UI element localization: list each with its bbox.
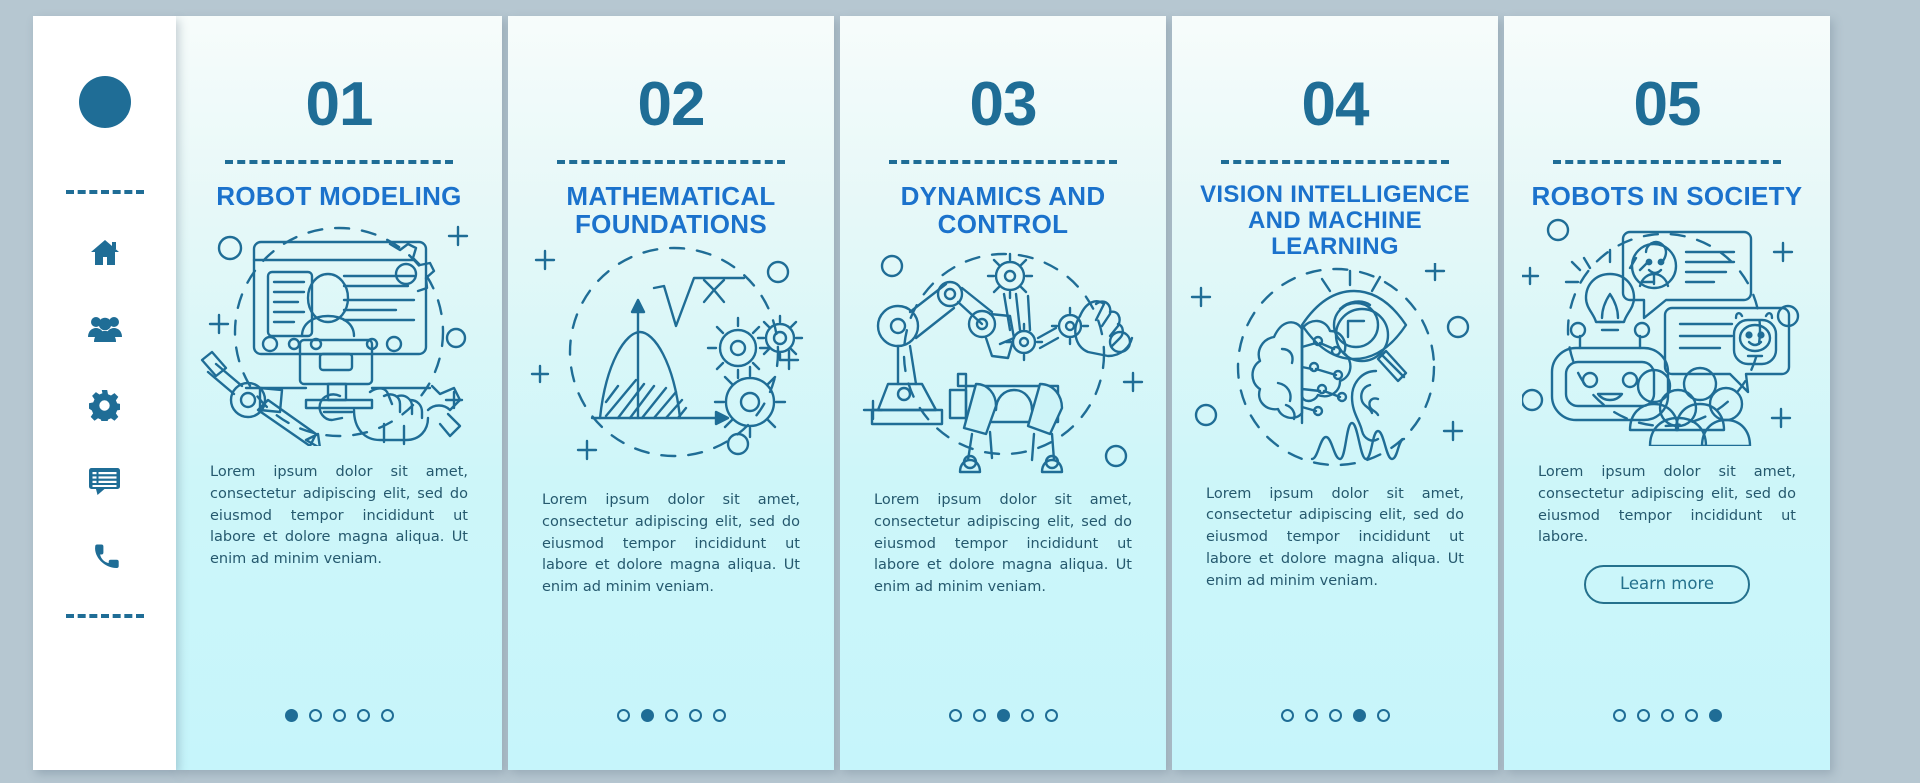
pagination-dot[interactable] (1329, 709, 1342, 722)
gear-icon (89, 390, 120, 421)
pagination-dot[interactable] (1045, 709, 1058, 722)
sidebar-item-users[interactable] (88, 312, 122, 346)
title-divider (889, 160, 1117, 164)
pagination-dot[interactable] (1661, 709, 1674, 722)
pagination-dot[interactable] (1637, 709, 1650, 722)
pagination-dot[interactable] (949, 709, 962, 722)
vision-machine-learning-illustration (1185, 262, 1485, 474)
pagination-dot[interactable] (665, 709, 678, 722)
card-title: VISION INTELLIGENCE AND MACHINE LEARNING (1185, 182, 1485, 260)
learn-more-button[interactable]: Learn more (1584, 565, 1750, 604)
card-body-text: Lorem ipsum dolor sit amet, consectetur … (874, 490, 1132, 599)
onboarding-card[interactable]: 03 DYNAMICS AND CONTROL (840, 16, 1166, 770)
sidebar (33, 16, 176, 770)
sidebar-item-contact[interactable] (88, 540, 122, 574)
onboarding-card[interactable]: 01 ROBOT MODELING (176, 16, 502, 770)
chat-icon (88, 467, 121, 496)
step-number: 04 (1302, 74, 1369, 136)
pagination-dot[interactable] (713, 709, 726, 722)
sidebar-divider-bottom (66, 614, 144, 618)
pagination-dot[interactable] (309, 709, 322, 722)
pagination-dot[interactable] (689, 709, 702, 722)
onboarding-card[interactable]: 02 MATHEMATICAL FOUNDATIONS (508, 16, 834, 770)
card-body-text: Lorem ipsum dolor sit amet, consectetur … (210, 462, 468, 571)
pagination-dot[interactable] (641, 709, 654, 722)
card-title: MATHEMATICAL FOUNDATIONS (521, 182, 821, 238)
title-divider (557, 160, 785, 164)
title-divider (225, 160, 453, 164)
mathematical-foundations-illustration (521, 240, 821, 476)
pagination-dot[interactable] (381, 709, 394, 722)
card-body-text: Lorem ipsum dolor sit amet, consectetur … (1206, 484, 1464, 593)
onboarding-card-list: 01 ROBOT MODELING (176, 16, 1830, 770)
sidebar-nav (88, 236, 122, 574)
step-number: 01 (306, 74, 373, 136)
card-title: DYNAMICS AND CONTROL (853, 182, 1153, 238)
pagination-dots[interactable] (840, 709, 1166, 722)
pagination-dot[interactable] (1021, 709, 1034, 722)
card-body-text: Lorem ipsum dolor sit amet, consectetur … (1538, 462, 1796, 549)
sidebar-item-home[interactable] (88, 236, 122, 270)
pagination-dot[interactable] (1709, 709, 1722, 722)
pagination-dot[interactable] (617, 709, 630, 722)
title-divider (1553, 160, 1781, 164)
dynamics-and-control-illustration (853, 240, 1153, 476)
pagination-dot[interactable] (357, 709, 370, 722)
sidebar-divider-top (66, 190, 144, 194)
pagination-dot[interactable] (333, 709, 346, 722)
onboarding-card[interactable]: 05 ROBOTS IN SOCIETY (1504, 16, 1830, 770)
sidebar-item-messages[interactable] (88, 464, 122, 498)
pagination-dot[interactable] (973, 709, 986, 722)
pagination-dot[interactable] (1353, 709, 1366, 722)
logo-circle[interactable] (79, 76, 131, 128)
card-title: ROBOT MODELING (189, 182, 489, 210)
home-icon (89, 238, 121, 268)
onboarding-screens: 01 ROBOT MODELING (0, 0, 1920, 783)
users-icon (88, 315, 122, 343)
robot-modeling-illustration (189, 212, 489, 448)
pagination-dot[interactable] (1685, 709, 1698, 722)
pagination-dot[interactable] (1377, 709, 1390, 722)
step-number: 03 (970, 74, 1037, 136)
pagination-dot[interactable] (997, 709, 1010, 722)
robots-in-society-illustration (1517, 212, 1817, 448)
pagination-dots[interactable] (176, 709, 502, 722)
pagination-dot[interactable] (1281, 709, 1294, 722)
phone-icon (91, 543, 119, 571)
pagination-dot[interactable] (1613, 709, 1626, 722)
pagination-dots[interactable] (1504, 709, 1830, 722)
step-number: 02 (638, 74, 705, 136)
pagination-dots[interactable] (508, 709, 834, 722)
card-body-text: Lorem ipsum dolor sit amet, consectetur … (542, 490, 800, 599)
card-title: ROBOTS IN SOCIETY (1517, 182, 1817, 210)
sidebar-item-settings[interactable] (88, 388, 122, 422)
pagination-dot[interactable] (1305, 709, 1318, 722)
pagination-dots[interactable] (1172, 709, 1498, 722)
step-number: 05 (1634, 74, 1701, 136)
pagination-dot[interactable] (285, 709, 298, 722)
title-divider (1221, 160, 1449, 164)
onboarding-card[interactable]: 04 VISION INTELLIGENCE AND MACHINE LEARN… (1172, 16, 1498, 770)
